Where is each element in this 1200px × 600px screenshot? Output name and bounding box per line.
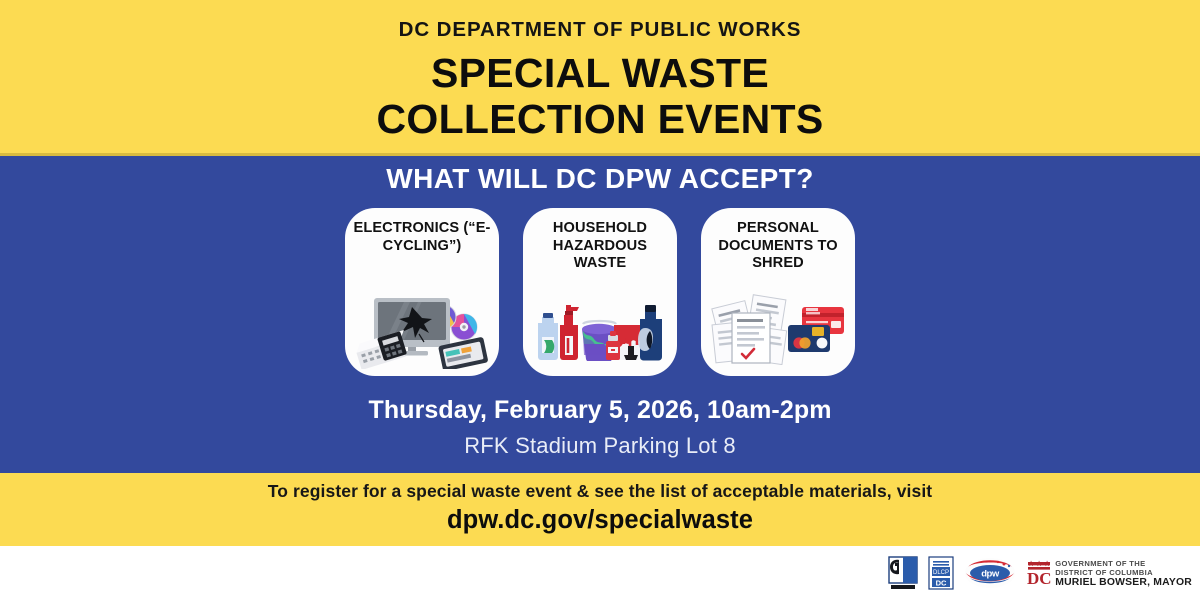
dc-dpw-logo: dpw <box>964 557 1016 589</box>
event-location: RFK Stadium Parking Lot 8 <box>0 433 1200 459</box>
accept-card-electronics[interactable]: Electronics (“E-cycling”) <box>345 208 499 376</box>
flyer-canvas: DC Department of Public Works Special Wa… <box>0 0 1200 600</box>
svg-text:DC: DC <box>1027 569 1052 586</box>
accept-card-label: Personal Documents to Shred <box>701 220 855 273</box>
gov-line-3: Muriel Bowser, Mayor <box>1055 578 1192 588</box>
dc-government-logo: DC Government of the District of Columbi… <box>1026 559 1192 588</box>
accept-card-label: Electronics (“E-cycling”) <box>345 220 499 255</box>
dc-flag-mark: DC <box>1026 560 1052 586</box>
register-instructions: To register for a special waste event & … <box>0 481 1200 502</box>
shred-documents-icon <box>701 291 855 369</box>
hazardous-waste-icon <box>523 291 677 369</box>
svg-text:dpw: dpw <box>981 569 1000 580</box>
event-date: Thursday, February 5, 2026, 10am-2pm <box>0 396 1200 425</box>
page-title-line2: Collection Events <box>0 96 1200 142</box>
accept-card-hazardous-waste[interactable]: Household Hazardous Waste <box>523 208 677 376</box>
page-title: Special Waste Collection Events <box>0 50 1200 142</box>
register-url[interactable]: dpw.dc.gov/specialwaste <box>0 506 1200 535</box>
accept-card-shred-documents[interactable]: Personal Documents to Shred <box>701 208 855 376</box>
goodwill-logo <box>888 556 918 590</box>
page-title-line1: Special Waste <box>0 50 1200 96</box>
svg-text:DC: DC <box>936 579 947 588</box>
electronics-icon <box>345 291 499 369</box>
accept-heading: What will DC DPW accept? <box>0 163 1200 195</box>
partner-logo-strip: DLCP DC dpw <box>888 552 1192 594</box>
dc-dlcp-logo: DLCP DC <box>928 556 954 590</box>
agency-name: DC Department of Public Works <box>0 18 1200 42</box>
accept-card-list: Electronics (“E-cycling”) <box>0 208 1200 376</box>
accept-card-label: Household Hazardous Waste <box>523 220 677 273</box>
svg-text:DLCP: DLCP <box>933 570 949 576</box>
gov-line-1: Government of the <box>1055 559 1192 569</box>
